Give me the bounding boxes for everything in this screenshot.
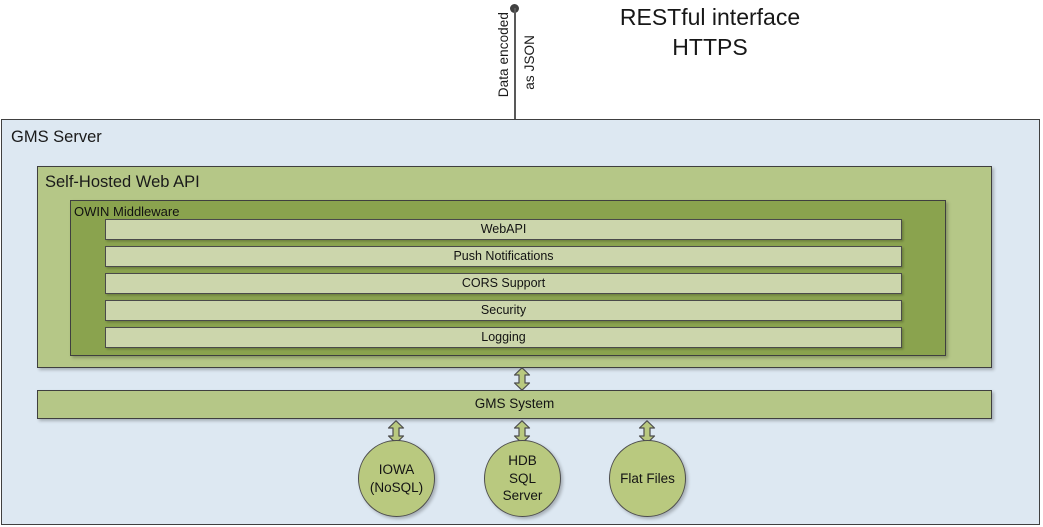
data-encoded-label: Data encoded bbox=[497, 12, 511, 97]
datastore-iowa-line1: IOWA bbox=[370, 461, 423, 479]
as-json-label: as JSON bbox=[523, 35, 537, 90]
middleware-component[interactable]: CORS Support bbox=[105, 273, 902, 294]
self-hosted-web-api-title: Self-Hosted Web API bbox=[45, 173, 200, 192]
restful-interface-line2: HTTPS bbox=[540, 32, 880, 62]
diagram-canvas: Data encoded as JSON RESTful interface H… bbox=[0, 0, 1043, 527]
datastore-hdb-line2: SQL bbox=[503, 470, 543, 488]
datastore-hdb-line3: Server bbox=[503, 487, 543, 505]
gms-system-bar[interactable]: GMS System bbox=[37, 390, 992, 419]
middleware-component[interactable]: WebAPI bbox=[105, 219, 902, 240]
gms-server-title: GMS Server bbox=[11, 128, 102, 147]
datastore-hdb-line1: HDB bbox=[503, 452, 543, 470]
datastore-flat-files[interactable]: Flat Files bbox=[609, 440, 686, 517]
datastore-hdb-sql-server[interactable]: HDB SQL Server bbox=[484, 440, 561, 517]
owin-middleware-component-list: WebAPI Push Notifications CORS Support S… bbox=[105, 219, 902, 348]
restful-interface-title: RESTful interface HTTPS bbox=[540, 2, 880, 63]
arrow-owin-to-gms-system bbox=[512, 367, 532, 391]
restful-interface-line1: RESTful interface bbox=[540, 2, 880, 32]
datastore-iowa[interactable]: IOWA (NoSQL) bbox=[358, 440, 435, 517]
datastore-iowa-line2: (NoSQL) bbox=[370, 479, 423, 497]
middleware-component[interactable]: Security bbox=[105, 300, 902, 321]
middleware-component[interactable]: Logging bbox=[105, 327, 902, 348]
middleware-component[interactable]: Push Notifications bbox=[105, 246, 902, 267]
datastore-flat-files-line1: Flat Files bbox=[620, 470, 675, 488]
owin-middleware-title: OWIN Middleware bbox=[74, 204, 179, 219]
